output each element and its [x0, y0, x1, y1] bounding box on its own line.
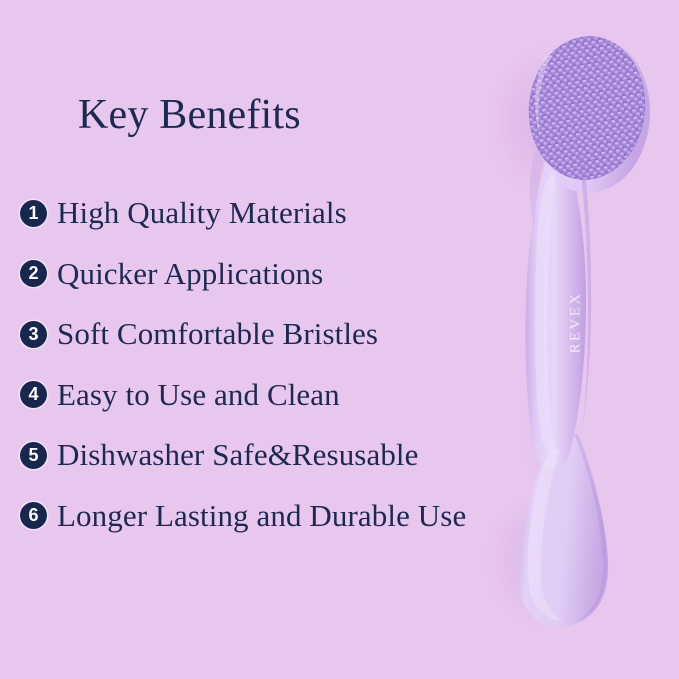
- page-title: Key Benefits: [78, 90, 301, 140]
- list-item-label: Quicker Applications: [57, 256, 323, 292]
- list-item-label: High Quality Materials: [57, 195, 347, 231]
- list-item: 6 Longer Lasting and Durable Use: [20, 486, 600, 547]
- list-item-label: Dishwasher Safe&Resusable: [57, 437, 419, 473]
- list-number-badge: 3: [20, 321, 47, 348]
- list-item: 3 Soft Comfortable Bristles: [20, 304, 600, 365]
- product-infographic: REVEX Key Benefits 1 High Quality Materi…: [0, 0, 679, 679]
- list-item-label: Soft Comfortable Bristles: [57, 316, 378, 352]
- list-number-badge: 5: [20, 442, 47, 469]
- list-number-badge: 6: [20, 502, 47, 529]
- list-number-badge: 2: [20, 260, 47, 287]
- list-item-label: Longer Lasting and Durable Use: [57, 498, 466, 534]
- list-item: 2 Quicker Applications: [20, 244, 600, 305]
- list-item-label: Easy to Use and Clean: [57, 377, 340, 413]
- list-item: 5 Dishwasher Safe&Resusable: [20, 425, 600, 486]
- list-item: 4 Easy to Use and Clean: [20, 365, 600, 426]
- benefits-panel: Key Benefits 1 High Quality Materials 2 …: [0, 0, 600, 679]
- benefits-list: 1 High Quality Materials 2 Quicker Appli…: [20, 183, 600, 546]
- list-number-badge: 4: [20, 381, 47, 408]
- list-item: 1 High Quality Materials: [20, 183, 600, 244]
- list-number-badge: 1: [20, 200, 47, 227]
